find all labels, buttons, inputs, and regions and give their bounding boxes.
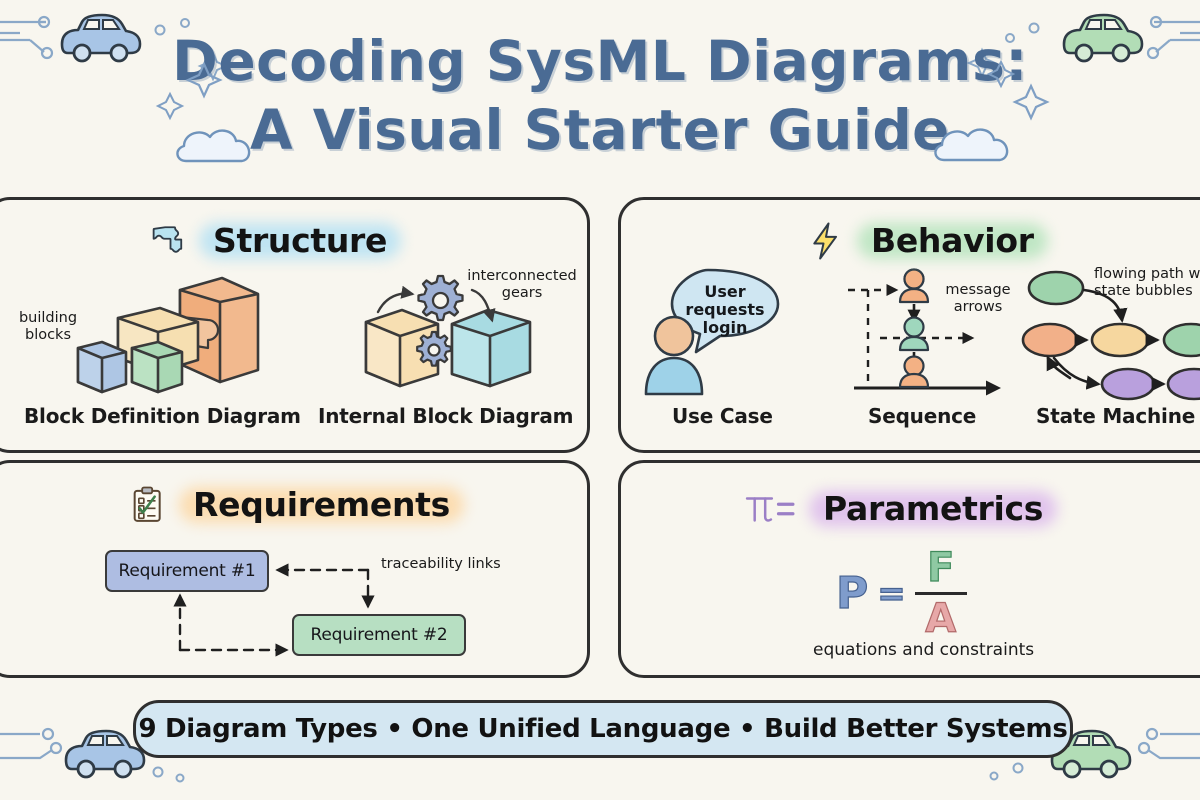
formula-numerator: F xyxy=(927,548,954,588)
formula-fraction: F A xyxy=(915,548,967,639)
note-traceability-links: traceability links xyxy=(381,556,501,573)
puzzle-piece-icon xyxy=(148,221,188,261)
caption-sequence: Sequence xyxy=(868,404,976,428)
svg-text:login: login xyxy=(703,318,748,337)
formula-lhs: P xyxy=(836,572,868,616)
section-heading-structure: Structure xyxy=(148,219,401,262)
circuit-node-icon xyxy=(1139,743,1149,753)
note-building-blocks: buildingblocks xyxy=(8,310,88,344)
formula-denominator: A xyxy=(925,599,956,639)
actor-icon xyxy=(900,318,928,351)
footer-banner: 9 Diagram Types • One Unified Language •… xyxy=(133,700,1073,758)
clipboard-checklist-icon xyxy=(128,485,168,525)
circuit-node-icon xyxy=(43,729,53,739)
state-bubble xyxy=(1102,369,1154,399)
illustration-block-definition xyxy=(62,272,297,400)
cloud-icon-right xyxy=(930,112,1050,174)
note-message-arrows: messagearrows xyxy=(932,282,1024,316)
section-heading-requirements: Requirements xyxy=(128,483,464,526)
caption-internal-block-diagram: Internal Block Diagram xyxy=(318,404,573,428)
illustration-use-case: User requests login xyxy=(638,260,818,405)
section-title-behavior: Behavior xyxy=(857,219,1048,262)
svg-text:User: User xyxy=(704,282,745,301)
lightning-bolt-icon xyxy=(806,221,846,261)
parametrics-formula: P = F A xyxy=(836,548,967,639)
cloud-icon-left xyxy=(172,115,282,175)
state-bubble xyxy=(1168,369,1200,399)
formula-equals: = xyxy=(877,577,906,611)
car-icon xyxy=(66,731,144,777)
dot-icon xyxy=(991,773,998,780)
state-bubble xyxy=(1164,324,1200,356)
state-bubble xyxy=(1023,324,1077,356)
circuit-node-icon xyxy=(51,743,61,753)
star-icon xyxy=(188,64,220,96)
section-title-structure: Structure xyxy=(199,219,401,262)
dot-icon xyxy=(181,19,189,27)
actor-icon xyxy=(900,357,928,388)
svg-text:requests: requests xyxy=(685,300,764,319)
note-equations-constraints: equations and constraints xyxy=(813,640,1034,660)
caption-block-definition-diagram: Block Definition Diagram xyxy=(24,404,301,428)
pi-equals-icon xyxy=(740,488,798,530)
sparkle-icon xyxy=(989,62,1013,86)
note-state-bubbles: flowing path withstate bubbles xyxy=(1094,266,1200,300)
circuit-node-icon xyxy=(1147,729,1157,739)
section-title-parametrics: Parametrics xyxy=(809,487,1057,530)
state-bubble xyxy=(1029,272,1083,304)
state-bubble xyxy=(1092,324,1148,356)
gear-icon xyxy=(417,332,451,366)
actor-icon xyxy=(900,270,928,303)
infographic-canvas: Decoding SysML Diagrams: A Visual Starte… xyxy=(0,0,1200,800)
caption-use-case: Use Case xyxy=(672,404,773,428)
section-title-requirements: Requirements xyxy=(179,483,464,526)
note-interconnected-gears: interconnectedgears xyxy=(452,268,592,302)
dot-icon xyxy=(177,775,184,782)
dot-icon xyxy=(154,768,163,777)
dot-icon xyxy=(1014,764,1023,773)
caption-state-machine: State Machine xyxy=(1036,404,1195,428)
section-heading-behavior: Behavior xyxy=(806,219,1048,262)
dot-icon xyxy=(1030,24,1039,33)
section-heading-parametrics: Parametrics xyxy=(740,487,1057,530)
fraction-bar xyxy=(915,592,967,595)
